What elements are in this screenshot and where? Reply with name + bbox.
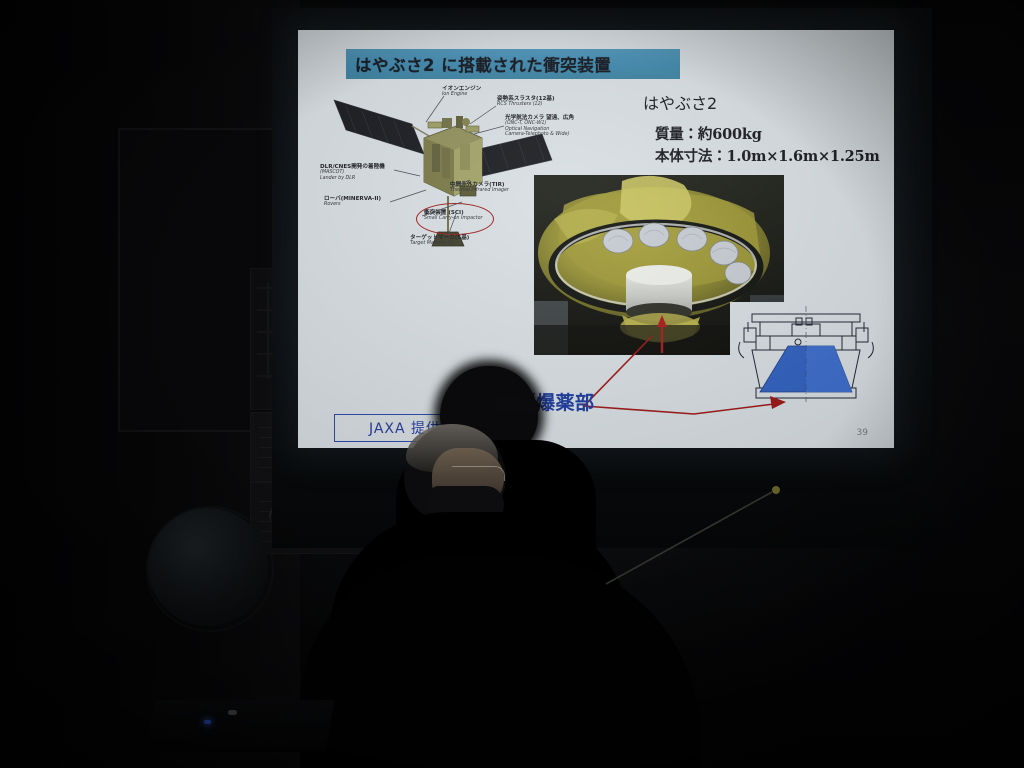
sci-highlight-ellipse [416, 203, 494, 235]
label-target-markers: ターゲットマーカ(5基) Target Markers (5) [410, 235, 469, 247]
presentation-slide: はやぶさ2 に搭載された衝突装置 [298, 30, 894, 448]
desk-surface [145, 700, 334, 752]
slide-title-band: はやぶさ2 に搭載された衝突装置 [346, 49, 680, 79]
laptop-led-indicator [204, 720, 211, 724]
spacecraft-spec-block: はやぶさ2 質量：約600kg 本体寸法：1.0m×1.6m×1.25m [643, 90, 880, 166]
glasses-icon [452, 466, 505, 481]
spec-name: はやぶさ2 [643, 90, 880, 114]
spec-dimensions: 本体寸法：1.0m×1.6m×1.25m [655, 145, 880, 166]
slide-title: はやぶさ2 に搭載された衝突装置 [346, 52, 611, 76]
lecture-room-scene: ♩♩ 𝄞 ♪♪ はやぶさ2 に搭載された衝突装置 [0, 0, 1024, 768]
label-mascot-lander: DLR/CNES開発の着陸機 (MASCOT) Lander by DLR [320, 164, 385, 181]
spec-mass: 質量：約600kg [655, 123, 880, 144]
label-minerva-rovers: ローバ(MINERVA-II) Rovers [324, 196, 381, 208]
wall-board-frame: ♩♩ 𝄞 ♪♪ [118, 128, 292, 432]
label-optical-navigation-camera: 光学航法カメラ 望遠、広角 (ONC-T, ONC-W1) Optical Na… [505, 115, 574, 137]
label-ion-engine: イオンエンジン Ion Engine [442, 86, 481, 98]
label-rcs-thrusters: 姿勢系スラスタ(12基) RCS Thrusters (12) [497, 96, 555, 108]
globe-ring [146, 506, 274, 632]
label-thermal-infrared-imager: 中間赤外カメラ(TIR) Thermal Infrared Imager [450, 182, 509, 194]
pointer-stick [596, 484, 796, 594]
slide-number: 39 [857, 428, 868, 438]
desk-glint [228, 710, 237, 715]
sci-cross-section-drawing [730, 302, 882, 404]
